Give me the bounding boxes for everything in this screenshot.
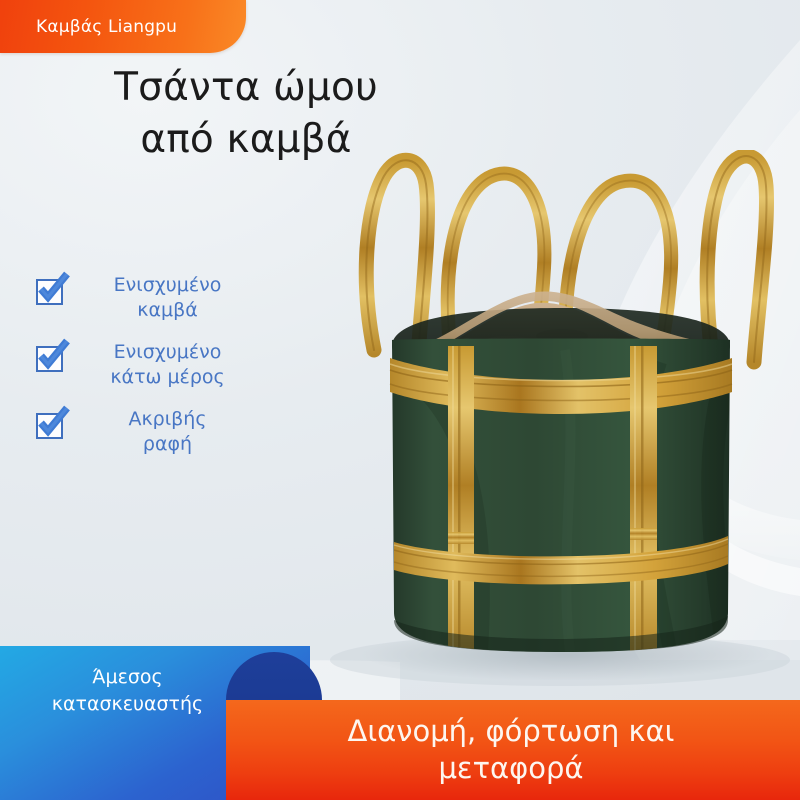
checkbox-checked-icon [34, 410, 68, 441]
feature-item-label: Ενισχυμένο κάτω μέρος [68, 339, 269, 389]
feature-item-label: Ακριβής ραφή [68, 406, 269, 456]
promo-line-2: μεταφορά [226, 750, 796, 787]
feature-item-label: Ενισχυμένο καμβά [68, 272, 269, 322]
feature-label-line-2: κάτω μέρος [110, 366, 224, 388]
feature-item-reinforced-bottom: Ενισχυμένο κάτω μέρος [34, 339, 269, 391]
brand-badge: Καμβάς Liangpu [0, 0, 246, 53]
brand-badge-label: Καμβάς Liangpu [0, 17, 177, 37]
maker-badge-label: Άμεσος κατασκευαστής [0, 664, 255, 717]
feature-label-line-1: Ακριβής [128, 408, 206, 430]
feature-item-reinforced-canvas: Ενισχυμένο καμβά [34, 272, 269, 324]
feature-label-line-1: Ενισχυμένο [114, 341, 222, 363]
checkbox-checked-icon [34, 343, 68, 374]
product-poster: Καμβάς Liangpu Τσάντα ώμου από καμβά Ενι… [0, 0, 800, 800]
promo-banner: Διανομή, φόρτωση και μεταφορά [226, 700, 800, 800]
feature-list: Ενισχυμένο καμβά Ενισχυμένο κάτω μέρος [34, 272, 269, 473]
checkbox-checked-icon [34, 276, 68, 307]
feature-item-precise-stitching: Ακριβής ραφή [34, 406, 269, 458]
product-image-canvas-bulk-bag [330, 150, 800, 680]
headline-line-2: από καμβά [36, 114, 456, 166]
feature-label-line-2: καμβά [137, 299, 197, 321]
maker-label-line-2: κατασκευαστής [0, 691, 255, 718]
maker-label-line-1: Άμεσος [0, 664, 255, 691]
headline-line-1: Τσάντα ώμου [36, 62, 456, 114]
feature-label-line-1: Ενισχυμένο [114, 274, 222, 296]
promo-banner-label: Διανομή, φόρτωση και μεταφορά [226, 713, 800, 787]
feature-label-line-2: ραφή [143, 433, 192, 455]
promo-line-1: Διανομή, φόρτωση και [226, 713, 796, 750]
page-title: Τσάντα ώμου από καμβά [36, 62, 456, 167]
